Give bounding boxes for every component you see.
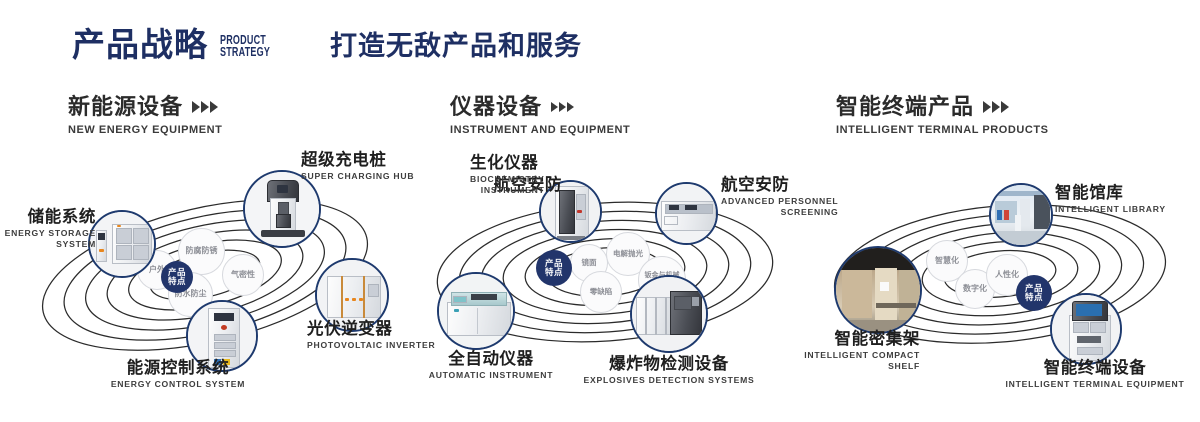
caption-intelligent-library: 智能馆库 INTELLIGENT LIBRARY bbox=[1055, 184, 1166, 215]
cluster-intelligent-terminal: 智慧化 数字化 人性化 产品 特点 bbox=[800, 150, 1200, 400]
section-header-new-energy: 新能源设备 NEW ENERGY EQUIPMENT bbox=[68, 96, 222, 136]
caption-intelligent-compact-shelf: 智能密集架 INTELLIGENT COMPACT SHELF bbox=[755, 330, 920, 372]
explosives-detection-photo bbox=[632, 277, 706, 351]
node-bubble-intelligent-library[interactable] bbox=[989, 183, 1053, 247]
page-title-en-line2: STRATEGY bbox=[220, 46, 270, 59]
section-title-en-intelligent-terminal: INTELLIGENT TERMINAL PRODUCTS bbox=[836, 125, 1049, 136]
page-title-en: PRODUCT STRATEGY bbox=[220, 34, 270, 60]
section-title-cn-intelligent-terminal: 智能终端产品 bbox=[836, 96, 974, 118]
product-strategy-infographic: 产品战略 PRODUCT STRATEGY 打造无敌产品和服务 新能源设备 NE… bbox=[0, 0, 1200, 422]
intelligent-terminal-equipment-photo bbox=[1052, 295, 1120, 363]
product-feature-badge: 产品 特点 bbox=[1016, 275, 1052, 311]
chevron-right-icon bbox=[192, 101, 218, 113]
section-title-cn-new-energy: 新能源设备 bbox=[68, 96, 183, 118]
feature-bubble: 气密性 bbox=[222, 254, 264, 296]
node-bubble-automatic-instrument[interactable] bbox=[437, 272, 515, 350]
caption-energy-control-system: 能源控制系统 ENERGY CONTROL SYSTEM bbox=[88, 359, 268, 390]
caption-explosives-detection: 爆炸物检测设备 EXPLOSIVES DETECTION SYSTEMS bbox=[569, 355, 769, 386]
node-bubble-energy-storage[interactable] bbox=[88, 210, 156, 278]
advanced-personnel-screening-photo bbox=[657, 184, 716, 243]
section-header-instrument: 仪器设备 INSTRUMENT AND EQUIPMENT bbox=[450, 96, 630, 136]
caption-energy-storage: 储能系统 ENERGY STORAGE SYSTEM bbox=[0, 208, 96, 250]
page-title-cn: 产品战略 bbox=[72, 28, 208, 61]
section-title-en-new-energy: NEW ENERGY EQUIPMENT bbox=[68, 125, 222, 136]
page-title: 产品战略 PRODUCT STRATEGY bbox=[72, 28, 290, 61]
section-title-cn-instrument: 仪器设备 bbox=[450, 96, 542, 118]
energy-storage-photo bbox=[90, 212, 154, 276]
product-feature-badge: 产品 特点 bbox=[161, 261, 193, 293]
node-bubble-intelligent-compact-shelf[interactable] bbox=[834, 246, 922, 334]
section-title-en-instrument: INSTRUMENT AND EQUIPMENT bbox=[450, 125, 630, 136]
intelligent-compact-shelf-photo bbox=[836, 248, 920, 332]
caption-automatic-instrument: 全自动仪器 AUTOMATIC INSTRUMENT bbox=[391, 350, 591, 381]
feature-bubble: 零缺陷 bbox=[580, 271, 622, 313]
page-subtitle: 打造无敌产品和服务 bbox=[330, 33, 582, 60]
node-bubble-explosives-detection[interactable] bbox=[630, 275, 708, 353]
node-bubble-intelligent-terminal-equipment[interactable] bbox=[1050, 293, 1122, 365]
node-bubble-advanced-personnel-screening[interactable] bbox=[655, 182, 718, 245]
cluster-new-energy: 防腐防锈 户外 防水防尘 气密性 产品 特点 bbox=[0, 150, 420, 400]
automatic-instrument-photo bbox=[439, 274, 513, 348]
caption-intelligent-terminal-equipment: 智能终端设备 INTELLIGENT TERMINAL EQUIPMENT bbox=[995, 359, 1195, 390]
product-feature-badge: 产品 特点 bbox=[536, 250, 572, 286]
page-title-en-line1: PRODUCT bbox=[220, 34, 270, 47]
intelligent-library-photo bbox=[991, 185, 1051, 245]
super-charging-hub-photo bbox=[245, 172, 319, 246]
section-header-intelligent-terminal: 智能终端产品 INTELLIGENT TERMINAL PRODUCTS bbox=[836, 96, 1049, 136]
chevron-right-icon bbox=[983, 101, 1009, 113]
chevron-right-icon bbox=[551, 102, 574, 112]
caption-biochemistry-instrument: 生化仪器 BIOCHEMISTRY INSTRUMENT bbox=[470, 154, 545, 196]
